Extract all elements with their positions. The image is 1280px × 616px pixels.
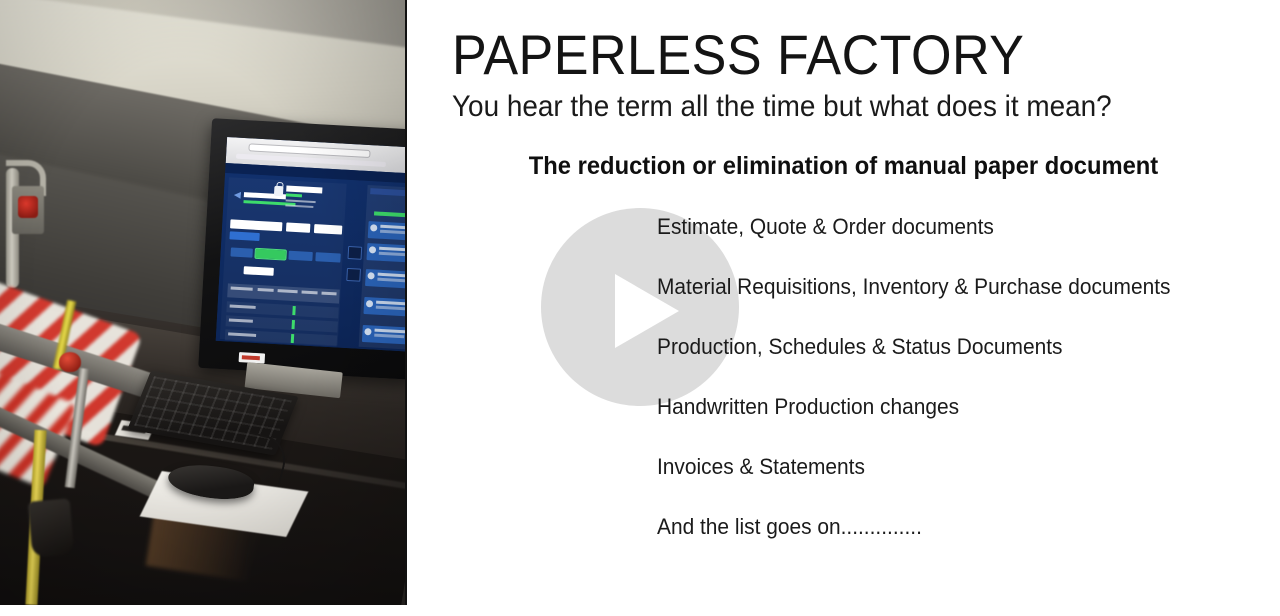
tab-2-active xyxy=(255,249,285,260)
search-field xyxy=(230,219,282,231)
card-line xyxy=(377,278,407,283)
slide-root: PAPERLESS FACTORY You hear the term all … xyxy=(0,0,1280,616)
grid-header-cell xyxy=(302,290,318,294)
grid-cell xyxy=(230,304,256,308)
change-log-link xyxy=(374,211,407,217)
history-card xyxy=(362,325,407,345)
content-area: PAPERLESS FACTORY You hear the term all … xyxy=(407,0,1280,616)
tab-4 xyxy=(315,252,340,262)
history-card xyxy=(368,221,407,241)
list-item: Estimate, Quote & Order documents xyxy=(657,216,1170,276)
filter-field-2 xyxy=(314,224,342,235)
grid-cell xyxy=(228,332,256,337)
page-title: PAPERLESS FACTORY xyxy=(452,27,1024,83)
tab-1 xyxy=(230,247,252,257)
list-item: Production, Schedules & Status Documents xyxy=(657,336,1170,396)
monitor-screen xyxy=(216,137,407,352)
list-item: Invoices & Statements xyxy=(657,456,1170,516)
card-line xyxy=(379,252,407,257)
primary-action-button xyxy=(229,231,259,241)
list-item: And the list goes on.............. xyxy=(657,516,1170,576)
app-main-panel xyxy=(220,177,347,345)
avatar-icon xyxy=(367,272,374,279)
list-item: Material Requisitions, Inventory & Purch… xyxy=(657,276,1170,336)
grid-header-cell xyxy=(321,292,336,296)
app-body xyxy=(216,173,407,352)
card-line xyxy=(380,230,407,235)
order-status-badge xyxy=(286,193,302,197)
black-fixture xyxy=(28,498,75,557)
order-history-panel xyxy=(359,185,407,350)
row-action-button xyxy=(347,246,362,260)
back-chevron-icon xyxy=(234,192,241,199)
grid-header-cell xyxy=(231,286,253,290)
card-line xyxy=(374,334,404,339)
history-card xyxy=(365,269,407,289)
avatar-icon xyxy=(370,224,377,231)
grid-header-cell xyxy=(258,288,274,292)
factory-monitor xyxy=(198,118,407,380)
page-subtitle: You hear the term all the time but what … xyxy=(452,92,1112,122)
grid-header-cell xyxy=(278,289,298,293)
status-indicator xyxy=(292,320,295,329)
list-item: Handwritten Production changes xyxy=(657,396,1170,456)
qty-field xyxy=(243,266,273,276)
photo-scene xyxy=(0,0,405,605)
row-action-button xyxy=(346,268,361,282)
bullet-list: Estimate, Quote & Order documents Materi… xyxy=(657,216,1197,576)
history-card xyxy=(363,297,407,317)
status-indicator xyxy=(292,306,295,315)
history-card xyxy=(366,243,407,263)
lead-statement: The reduction or elimination of manual p… xyxy=(429,154,1258,179)
filter-field-1 xyxy=(286,223,310,233)
order-number xyxy=(286,185,322,193)
avatar-icon xyxy=(369,246,376,253)
grid-cell xyxy=(229,318,253,322)
lock-icon xyxy=(274,186,284,196)
red-knob xyxy=(59,352,81,372)
status-indicator xyxy=(291,334,294,343)
factory-photo xyxy=(0,0,407,605)
card-line xyxy=(376,306,406,311)
order-meta-2 xyxy=(285,204,313,208)
order-history-title xyxy=(370,188,407,197)
emergency-stop-button xyxy=(18,196,38,218)
avatar-icon xyxy=(364,328,371,335)
avatar-icon xyxy=(366,300,373,307)
data-grid-header xyxy=(227,283,340,303)
tab-3 xyxy=(288,251,312,261)
